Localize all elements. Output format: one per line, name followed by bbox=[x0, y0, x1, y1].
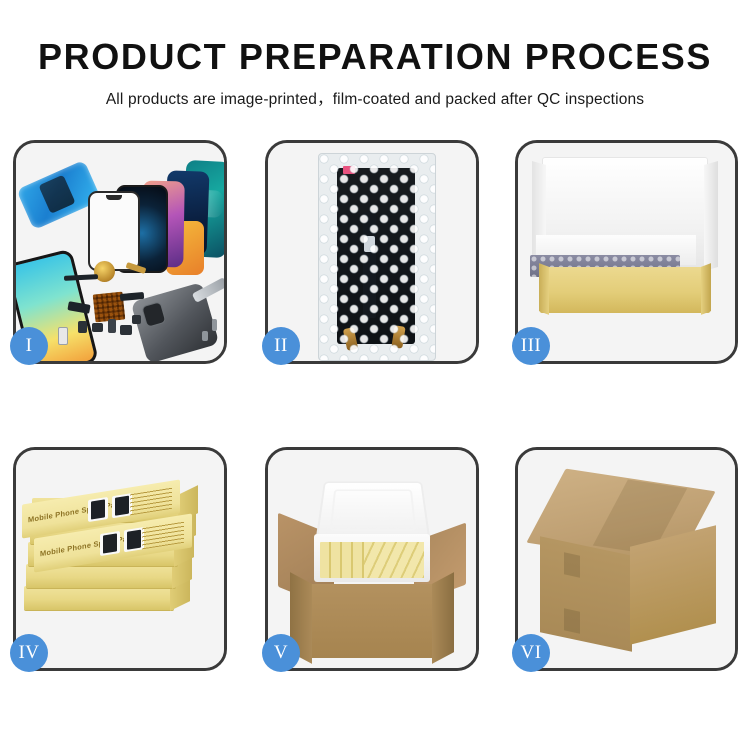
carton-side-face bbox=[630, 525, 716, 644]
screw-icon bbox=[202, 331, 208, 341]
flex-cable-icon bbox=[64, 274, 98, 281]
step-panel-2[interactable]: II bbox=[265, 140, 479, 364]
carton-body-icon bbox=[306, 584, 438, 658]
box-art-screen-icon bbox=[100, 531, 120, 556]
step-badge-5: V bbox=[262, 634, 300, 672]
box-art-screen-icon bbox=[112, 493, 132, 518]
step-panel-6[interactable]: VI bbox=[515, 447, 738, 671]
step-badge-4: IV bbox=[10, 634, 48, 672]
step-image-4: Mobile Phone Spare Parts Mobile Phone Sp… bbox=[16, 450, 224, 668]
step-badge-2: II bbox=[262, 327, 300, 365]
gold-boxes-inside-icon bbox=[364, 542, 424, 578]
box-spec-lines bbox=[130, 487, 172, 516]
step-image-5 bbox=[268, 450, 476, 668]
product-preparation-infographic: PRODUCT PREPARATION PROCESS All products… bbox=[0, 0, 750, 750]
small-part-icon bbox=[92, 323, 103, 332]
carton-front-face bbox=[540, 536, 632, 652]
step-image-2 bbox=[268, 143, 476, 361]
bubble-wrap-bag bbox=[318, 153, 436, 361]
small-part-icon bbox=[120, 325, 132, 335]
box-spec-lines bbox=[142, 521, 184, 550]
step-image-6 bbox=[518, 450, 735, 668]
white-front-panel-icon bbox=[88, 191, 140, 271]
carton-tape-mark bbox=[564, 608, 580, 633]
box-label-text: Mobile Phone Spare Parts bbox=[28, 498, 125, 524]
tweezers-icon bbox=[192, 277, 224, 303]
small-part-icon bbox=[58, 327, 68, 345]
carton-tape-mark bbox=[564, 552, 580, 577]
box-art-screen-icon bbox=[88, 497, 108, 522]
box-label-text: Mobile Phone Spare Parts bbox=[40, 532, 137, 558]
small-part-icon bbox=[132, 315, 141, 324]
gold-box-stack: Mobile Phone Spare Parts Mobile Phone Sp… bbox=[18, 468, 224, 654]
step-panel-5[interactable]: V bbox=[265, 447, 479, 671]
step-image-3 bbox=[518, 143, 735, 361]
step-panel-3[interactable]: III bbox=[515, 140, 738, 364]
step-image-1 bbox=[16, 143, 224, 361]
bubble-texture bbox=[319, 154, 435, 360]
gold-box-tray-icon bbox=[540, 267, 710, 313]
small-part-icon bbox=[108, 319, 116, 333]
steps-grid: I II bbox=[0, 0, 750, 750]
step-badge-1: I bbox=[10, 327, 48, 365]
gold-box-icon bbox=[24, 586, 174, 610]
step-panel-4[interactable]: Mobile Phone Spare Parts Mobile Phone Sp… bbox=[13, 447, 227, 671]
box-art-screen-icon bbox=[124, 527, 144, 552]
step-badge-3: III bbox=[512, 327, 550, 365]
small-part-icon bbox=[78, 321, 87, 333]
screw-icon bbox=[212, 319, 217, 331]
step-badge-6: VI bbox=[512, 634, 550, 672]
step-panel-1[interactable]: I bbox=[13, 140, 227, 364]
foam-box-lid-icon bbox=[315, 482, 430, 542]
